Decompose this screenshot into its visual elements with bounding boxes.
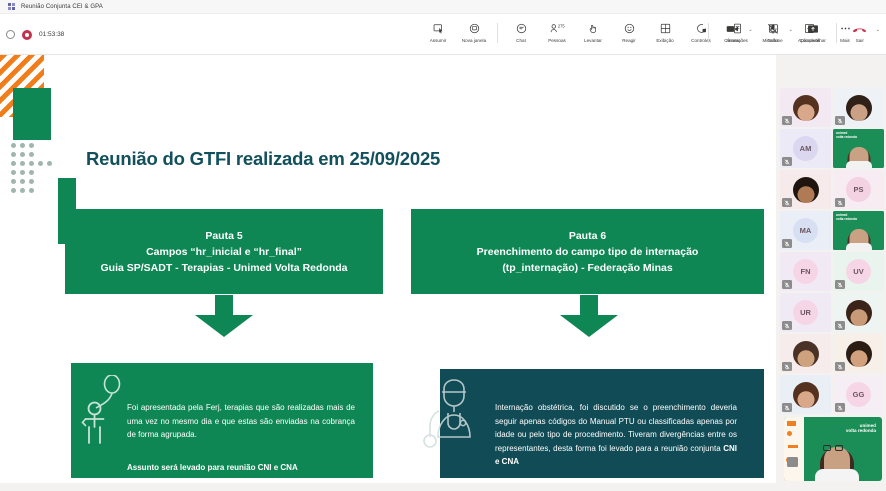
avatar: UR: [793, 300, 818, 325]
leave-label: Sair: [856, 38, 864, 43]
avatar: [793, 177, 819, 203]
toolbar-item-levantar[interactable]: Levantar: [575, 17, 611, 43]
pauta-6-box: Pauta 6 Preenchimento do campo tipo de i…: [411, 209, 764, 294]
mic-muted-icon: [782, 157, 792, 166]
toolbar-item-label: Nova janela: [462, 38, 486, 43]
recording-status-group: 01:53:38: [6, 14, 64, 55]
virtual-background-art: [784, 417, 804, 481]
new-window-icon: [469, 21, 480, 36]
participant-tile[interactable]: [780, 334, 831, 373]
microphone-control-group: Microfone ⌄: [755, 17, 795, 43]
arrow-down-icon: [560, 295, 618, 337]
speaker-shirt: [815, 469, 859, 481]
window-title-bar: Reunião Conjunta CEI & GPA: [0, 0, 886, 14]
participant-tile[interactable]: AM: [780, 129, 831, 168]
avatar: [793, 341, 819, 367]
pauta-5-box: Pauta 5 Campos “hr_inicial e “hr_final” …: [65, 209, 383, 294]
record-dot-icon[interactable]: [22, 30, 32, 40]
page-title: Reunião do GTFI realizada em 25/09/2025: [86, 148, 440, 170]
person-balloon-icon: [79, 375, 133, 453]
camera-control-group: Câmera ⌄: [714, 17, 754, 43]
participant-video: unimedvolta redonda: [833, 129, 884, 168]
chevron-down-icon[interactable]: ⌄: [789, 17, 793, 33]
toolbar-item-nova-janela[interactable]: Nova janela: [456, 17, 492, 43]
participant-tile[interactable]: [780, 170, 831, 209]
avatar: AM: [793, 136, 818, 161]
mic-muted-icon: [835, 321, 845, 330]
decorative-green-block: [13, 88, 51, 140]
avatar: MA: [793, 218, 818, 243]
share-screen-icon: [807, 21, 819, 36]
teams-meeting-window: Reunião Conjunta CEI & GPA 01:53:38 Assu…: [0, 0, 886, 491]
chevron-down-icon[interactable]: ⌄: [876, 17, 880, 33]
avatar: FN: [793, 259, 818, 284]
participant-tile[interactable]: [780, 375, 831, 414]
mic-muted-icon: [782, 116, 792, 125]
microphone-button[interactable]: Microfone: [755, 17, 791, 43]
chat-icon: [516, 21, 527, 36]
teams-icon: [8, 3, 16, 11]
meeting-toolbar: 01:53:38 Assumir Nova janela Cha: [0, 14, 886, 55]
avatar: [793, 382, 819, 408]
mic-muted-icon: [782, 239, 792, 248]
view-grid-icon: [660, 21, 671, 36]
people-icon: 275: [550, 21, 565, 36]
participant-tile[interactable]: unimedvolta redonda: [833, 211, 884, 250]
participant-tile[interactable]: unimedvolta redonda: [833, 129, 884, 168]
avatar: [846, 95, 872, 121]
participant-tile[interactable]: GG: [833, 375, 884, 414]
camera-label: Câmera: [724, 38, 740, 43]
circle-icon[interactable]: [6, 30, 15, 39]
toolbar-item-reagir[interactable]: Reagir: [611, 17, 647, 43]
mic-muted-icon: [787, 457, 798, 467]
toolbar-item-assumir[interactable]: Assumir: [420, 17, 456, 43]
avatar: GG: [846, 382, 871, 407]
mic-muted-icon: [835, 116, 845, 125]
raise-hand-icon: [588, 21, 599, 36]
toolbar-item-label: Exibição: [656, 38, 673, 43]
chevron-down-icon[interactable]: ⌄: [748, 17, 752, 33]
avatar: [846, 300, 872, 326]
participant-tile[interactable]: [833, 334, 884, 373]
participant-tile[interactable]: [780, 88, 831, 127]
participant-tile[interactable]: MA: [780, 211, 831, 250]
avatar: UV: [846, 259, 871, 284]
hangup-phone-icon: [852, 21, 867, 36]
mic-muted-icon: [782, 403, 792, 412]
toolbar-item-label: Levantar: [584, 38, 602, 43]
note-right-paragraph: Internação obstétrica, foi discutido se …: [495, 401, 737, 469]
note-left-highlight: Assunto será levado para reunião CNI e C…: [127, 461, 367, 474]
pauta-5-line-2: Campos “hr_inicial e “hr_final”: [146, 244, 302, 260]
participant-tile[interactable]: PS: [833, 170, 884, 209]
participant-video: unimedvolta redonda: [833, 211, 884, 250]
participant-tile[interactable]: [833, 293, 884, 332]
toolbar-divider: [836, 23, 837, 43]
doctor-stethoscope-icon: [418, 379, 490, 457]
pauta-6-line-1: Pauta 6: [569, 228, 606, 244]
note-left-box: Foi apresentada pela Ferj, terapias que …: [71, 363, 373, 483]
participant-tile[interactable]: FN: [780, 252, 831, 291]
avatar: PS: [846, 177, 871, 202]
mic-muted-icon: [835, 198, 845, 207]
mic-muted-icon: [782, 321, 792, 330]
note-right-box: Internação obstétrica, foi discutido se …: [440, 369, 764, 483]
presentation-slide: Reunião do GTFI realizada em 25/09/2025 …: [0, 55, 776, 483]
participant-tile[interactable]: UR: [780, 293, 831, 332]
shared-content-stage[interactable]: Reunião do GTFI realizada em 25/09/2025 …: [0, 55, 776, 491]
toolbar-divider: [708, 23, 709, 43]
mic-muted-icon: [782, 198, 792, 207]
toolbar-item-label: Chat: [516, 38, 526, 43]
participant-grid: AMunimedvolta redondaPSMAunimedvolta red…: [780, 88, 884, 414]
speaker-glasses: [823, 445, 843, 451]
slide-bottom-edge: [0, 478, 776, 483]
mic-muted-icon: [835, 362, 845, 371]
pauta-6-line-3: (tp_internação) - Federação Minas: [502, 260, 672, 276]
camera-icon: [726, 21, 739, 36]
recording-elapsed-time: 01:53:38: [39, 31, 64, 38]
share-label: Compartilhar: [800, 38, 826, 43]
avatar: [846, 341, 872, 367]
active-speaker-tile[interactable]: unimedvolta redonda: [784, 417, 882, 481]
arrow-down-icon: [195, 295, 253, 337]
microphone-muted-icon: [767, 21, 779, 36]
participant-tile[interactable]: [833, 88, 884, 127]
pauta-6-line-2: Preenchimento do campo tipo de internaçã…: [477, 244, 699, 260]
mic-muted-icon: [835, 403, 845, 412]
toolbar-item-exibicao[interactable]: Exibição: [647, 17, 683, 43]
note-right-text: Internação obstétrica, foi discutido se …: [495, 403, 737, 453]
hangup-button[interactable]: Sair: [842, 17, 878, 43]
speaker-watermark: unimedvolta redonda: [846, 423, 876, 434]
decorative-dot-grid: [11, 143, 57, 193]
toolbar-item-label: Assumir: [430, 38, 447, 43]
toolbar-item-pessoas[interactable]: 275 Pessoas: [539, 17, 575, 43]
toolbar-item-label: Pessoas: [548, 38, 566, 43]
toolbar-right-tools: Câmera ⌄ Microfone ⌄ Compartilhar: [703, 17, 882, 43]
toolbar-item-label: Reagir: [622, 38, 636, 43]
toolbar-item-chat[interactable]: Chat: [503, 17, 539, 43]
avatar: [793, 95, 819, 121]
pauta-5-line-1: Pauta 5: [205, 228, 242, 244]
mic-muted-icon: [782, 362, 792, 371]
share-screen-button[interactable]: Compartilhar: [795, 17, 831, 43]
react-emoji-icon: [624, 21, 635, 36]
microphone-label: Microfone: [763, 38, 783, 43]
note-left-paragraph: Foi apresentada pela Ferj, terapias que …: [127, 401, 355, 442]
mic-muted-icon: [835, 280, 845, 289]
toolbar-divider: [497, 23, 498, 43]
svg-text:275: 275: [557, 23, 564, 28]
participant-tile[interactable]: UV: [833, 252, 884, 291]
take-control-icon: [433, 21, 444, 36]
window-title: Reunião Conjunta CEI & GPA: [21, 4, 103, 10]
mic-muted-icon: [782, 280, 792, 289]
camera-button[interactable]: Câmera: [714, 17, 750, 43]
pauta-5-line-3: Guia SP/SADT - Terapias - Unimed Volta R…: [101, 260, 348, 276]
leave-control-group: Sair ⌄: [842, 17, 882, 43]
